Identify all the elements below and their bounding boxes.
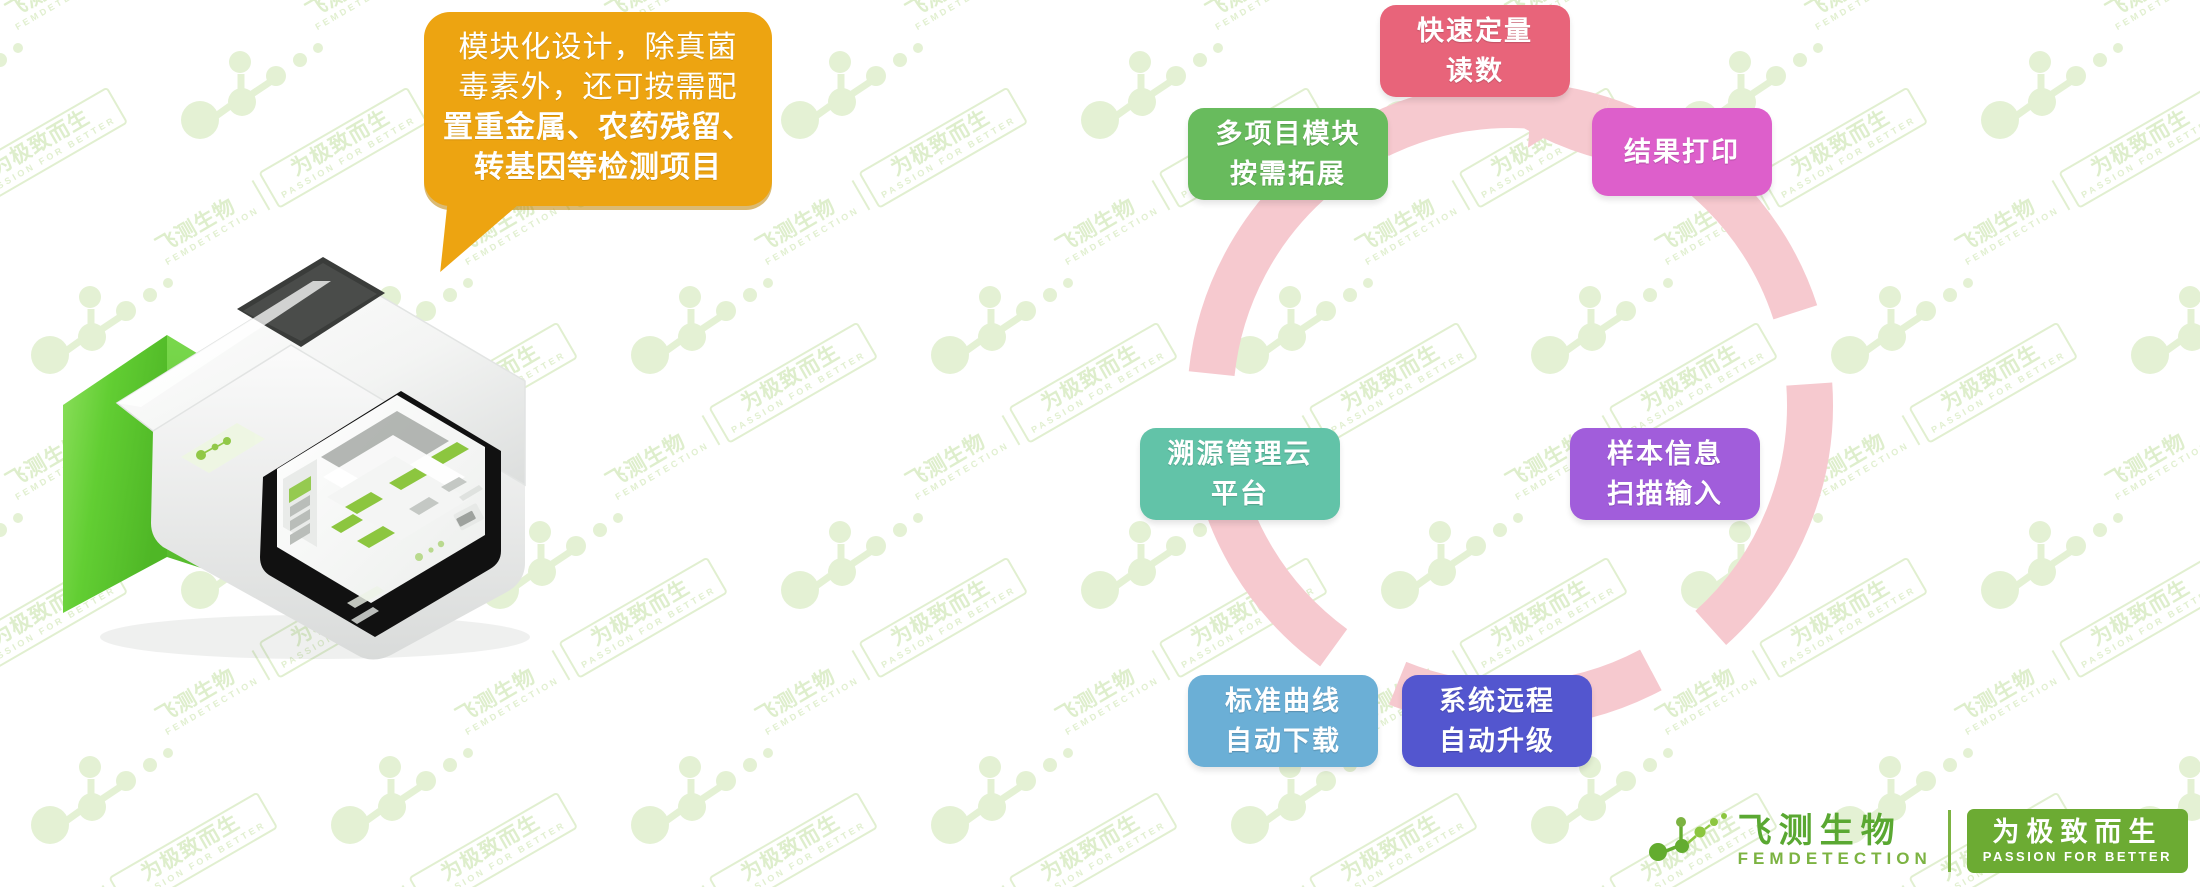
watermark-slogan-badge: 为极致而生PASSION FOR BETTER bbox=[108, 792, 278, 887]
watermark-molecule-icon bbox=[630, 733, 800, 853]
brand-name-en: FEMDETECTION bbox=[1738, 849, 1932, 869]
watermark-tile: 飞测生物FEMDETECTION为极致而生PASSION FOR BETTER bbox=[900, 792, 1178, 887]
cycle-node-fast-quant-reading[interactable]: 快速定量 读数 bbox=[1380, 5, 1570, 97]
watermark-divider bbox=[1002, 415, 1021, 445]
watermark-tile: 飞测生物FEMDETECTION为极致而生PASSION FOR BETTER bbox=[900, 322, 1178, 507]
watermark-tile: 飞测生物FEMDETECTION为极致而生PASSION FOR BETTER bbox=[750, 87, 1028, 272]
watermark-slogan-cn: 为极致而生 bbox=[1019, 800, 1163, 887]
watermark-molecule-icon bbox=[780, 498, 950, 618]
watermark-slogan-badge: 为极致而生PASSION FOR BETTER bbox=[858, 87, 1028, 209]
node-line-1: 结果打印 bbox=[1624, 132, 1740, 172]
watermark-tile: 飞测生物FEMDETECTION为极致而生PASSION FOR BETTER bbox=[1950, 557, 2200, 742]
cycle-node-traceability-cloud[interactable]: 溯源管理云 平台 bbox=[1140, 428, 1340, 520]
watermark-tile: 飞测生物FEMDETECTION为极致而生PASSION FOR BETTER bbox=[2100, 0, 2200, 36]
watermark-slogan-en: PASSION FOR BETTER bbox=[580, 585, 718, 671]
node-line-2: 按需拓展 bbox=[1230, 154, 1346, 194]
watermark-slogan-cn: 为极致而生 bbox=[419, 800, 563, 887]
watermark-brand-cn: 飞测生物 bbox=[1953, 186, 2057, 259]
watermark-brand-en: FEMDETECTION bbox=[1964, 675, 2062, 737]
watermark-brand-en: FEMDETECTION bbox=[2114, 440, 2200, 502]
watermark-divider bbox=[2052, 180, 2071, 210]
watermark-divider bbox=[852, 180, 871, 210]
watermark-tile: 飞测生物FEMDETECTION为极致而生PASSION FOR BETTER bbox=[1950, 87, 2200, 272]
watermark-brand-cn: 飞测生物 bbox=[153, 656, 257, 729]
watermark-slogan-en: PASSION FOR BETTER bbox=[1030, 820, 1168, 887]
watermark-brand-en: FEMDETECTION bbox=[1964, 205, 2062, 267]
watermark-slogan-badge: 为极致而生PASSION FOR BETTER bbox=[708, 792, 878, 887]
node-line-2: 自动下载 bbox=[1225, 721, 1341, 761]
watermark-brand-en: FEMDETECTION bbox=[2114, 0, 2200, 32]
watermark-slogan-badge: 为极致而生PASSION FOR BETTER bbox=[1008, 792, 1178, 887]
watermark-tile: 飞测生物FEMDETECTION为极致而生PASSION FOR BETTER bbox=[600, 792, 878, 887]
watermark-brand-cn: 飞测生物 bbox=[1953, 656, 2057, 729]
watermark-tile: 飞测生物FEMDETECTION为极致而生PASSION FOR BETTER bbox=[300, 792, 578, 887]
node-line-1: 多项目模块 bbox=[1216, 114, 1361, 154]
cycle-node-sample-info-scan[interactable]: 样本信息 扫描输入 bbox=[1570, 428, 1760, 520]
watermark-molecule-icon bbox=[930, 733, 1100, 853]
watermark-molecule-icon bbox=[1980, 28, 2150, 148]
node-line-2: 读数 bbox=[1446, 51, 1504, 91]
watermark-slogan-cn: 为极致而生 bbox=[719, 330, 863, 426]
watermark-slogan-cn: 为极致而生 bbox=[2069, 565, 2200, 661]
cycle-node-standard-curve-download[interactable]: 标准曲线 自动下载 bbox=[1188, 675, 1378, 767]
watermark-brand-en: FEMDETECTION bbox=[14, 0, 112, 32]
watermark-brand-en: FEMDETECTION bbox=[764, 675, 862, 737]
watermark-slogan-cn: 为极致而生 bbox=[0, 95, 113, 191]
watermark-brand-en: FEMDETECTION bbox=[464, 675, 562, 737]
watermark-slogan-en: PASSION FOR BETTER bbox=[730, 350, 868, 436]
molecule-logo-icon bbox=[1648, 812, 1734, 870]
watermark-molecule-icon bbox=[630, 263, 800, 383]
slogan-badge: 为极致而生 PASSION FOR BETTER bbox=[1967, 809, 2188, 873]
watermark-molecule-icon bbox=[1980, 498, 2150, 618]
watermark-molecule-icon bbox=[0, 28, 50, 148]
watermark-divider bbox=[2052, 650, 2071, 680]
watermark-slogan-en: PASSION FOR BETTER bbox=[1930, 350, 2068, 436]
watermark-slogan-badge: 为极致而生PASSION FOR BETTER bbox=[858, 557, 1028, 679]
watermark-tile: 飞测生物FEMDETECTION为极致而生PASSION FOR BETTER bbox=[750, 557, 1028, 742]
watermark-slogan-en: PASSION FOR BETTER bbox=[130, 820, 268, 887]
watermark-slogan-badge: 为极致而生PASSION FOR BETTER bbox=[408, 792, 578, 887]
logo-divider bbox=[1948, 810, 1951, 872]
watermark-slogan-en: PASSION FOR BETTER bbox=[730, 820, 868, 887]
node-line-2: 平台 bbox=[1211, 474, 1269, 514]
callout-line-4: 转基因等检测项目 bbox=[438, 148, 758, 188]
node-line-2: 扫描输入 bbox=[1607, 474, 1723, 514]
watermark-slogan-cn: 为极致而生 bbox=[869, 95, 1013, 191]
watermark-divider bbox=[702, 415, 721, 445]
callout-line-1: 模块化设计，除真菌 bbox=[438, 28, 758, 68]
watermark-brand-cn: 飞测生物 bbox=[903, 421, 1007, 494]
watermark-brand-cn: 飞测生物 bbox=[603, 421, 707, 494]
brand-name-cn: 飞测生物 bbox=[1738, 813, 1932, 849]
watermark-slogan-badge: 为极致而生PASSION FOR BETTER bbox=[2058, 557, 2200, 679]
watermark-tile: 飞测生物FEMDETECTION为极致而生PASSION FOR BETTER bbox=[600, 322, 878, 507]
watermark-molecule-icon bbox=[30, 733, 200, 853]
brand-text: 飞测生物 FEMDETECTION bbox=[1738, 813, 1932, 869]
watermark-slogan-badge: 为极致而生PASSION FOR BETTER bbox=[2058, 87, 2200, 209]
watermark-slogan-cn: 为极致而生 bbox=[269, 95, 413, 191]
node-line-1: 标准曲线 bbox=[1225, 681, 1341, 721]
process-cycle-diagram: 快速定量 读数 结果打印 样本信息 扫描输入 系统远程 自动升级 标准曲线 自动… bbox=[1140, 5, 1900, 795]
watermark-slogan-badge: 为极致而生PASSION FOR BETTER bbox=[1308, 792, 1478, 887]
watermark-brand-en: FEMDETECTION bbox=[764, 205, 862, 267]
watermark-tile: 飞测生物FEMDETECTION为极致而生PASSION FOR BETTER bbox=[0, 792, 278, 887]
watermark-brand-cn: 飞测生物 bbox=[2103, 0, 2200, 23]
watermark-slogan-en: PASSION FOR BETTER bbox=[2080, 115, 2200, 201]
cycle-node-system-remote-upgrade[interactable]: 系统远程 自动升级 bbox=[1402, 675, 1592, 767]
watermark-slogan-cn: 为极致而生 bbox=[569, 565, 713, 661]
watermark-brand-cn: 飞测生物 bbox=[903, 0, 1007, 23]
slogan-en: PASSION FOR BETTER bbox=[1983, 848, 2172, 866]
watermark-brand-cn: 飞测生物 bbox=[2103, 421, 2200, 494]
watermark-slogan-badge: 为极致而生PASSION FOR BETTER bbox=[558, 557, 728, 679]
callout-bubble-body: 模块化设计，除真菌 毒素外，还可按需配 置重金属、农药残留、 转基因等检测项目 bbox=[424, 12, 772, 206]
watermark-molecule-icon bbox=[2130, 263, 2200, 383]
node-line-2: 自动升级 bbox=[1439, 721, 1555, 761]
watermark-slogan-cn: 为极致而生 bbox=[719, 800, 863, 887]
node-line-1: 快速定量 bbox=[1417, 11, 1533, 51]
watermark-slogan-badge: 为极致而生PASSION FOR BETTER bbox=[1908, 322, 2078, 444]
watermark-slogan-cn: 为极致而生 bbox=[1919, 330, 2063, 426]
company-logo: 飞测生物 FEMDETECTION 为极致而生 PASSION FOR BETT… bbox=[1648, 809, 2188, 873]
watermark-molecule-icon bbox=[930, 263, 1100, 383]
watermark-brand-cn: 飞测生物 bbox=[3, 0, 107, 23]
watermark-brand-en: FEMDETECTION bbox=[164, 675, 262, 737]
watermark-tile: 飞测生物FEMDETECTION为极致而生PASSION FOR BETTER bbox=[2100, 322, 2200, 507]
callout-bubble-tail bbox=[440, 200, 524, 272]
callout-line-2: 毒素外，还可按需配 bbox=[438, 68, 758, 108]
callout-bubble: 模块化设计，除真菌 毒素外，还可按需配 置重金属、农药残留、 转基因等检测项目 bbox=[424, 12, 772, 206]
watermark-divider bbox=[1902, 415, 1921, 445]
watermark-slogan-badge: 为极致而生PASSION FOR BETTER bbox=[708, 322, 878, 444]
watermark-slogan-cn: 为极致而生 bbox=[119, 800, 263, 887]
watermark-brand-cn: 飞测生物 bbox=[753, 656, 857, 729]
watermark-molecule-icon bbox=[180, 28, 350, 148]
watermark-molecule-icon bbox=[780, 28, 950, 148]
watermark-slogan-en: PASSION FOR BETTER bbox=[430, 820, 568, 887]
node-line-1: 溯源管理云 bbox=[1168, 434, 1313, 474]
watermark-slogan-en: PASSION FOR BETTER bbox=[880, 585, 1018, 671]
watermark-divider bbox=[852, 650, 871, 680]
watermark-slogan-en: PASSION FOR BETTER bbox=[880, 115, 1018, 201]
cycle-node-multi-module-expand[interactable]: 多项目模块 按需拓展 bbox=[1188, 108, 1388, 200]
watermark-slogan-en: PASSION FOR BETTER bbox=[1330, 820, 1468, 887]
watermark-brand-en: FEMDETECTION bbox=[314, 0, 412, 32]
watermark-brand-en: FEMDETECTION bbox=[914, 440, 1012, 502]
callout-line-3: 置重金属、农药残留、 bbox=[438, 108, 758, 148]
watermark-molecule-icon bbox=[330, 733, 500, 853]
cycle-node-result-print[interactable]: 结果打印 bbox=[1592, 108, 1772, 196]
watermark-tile: 飞测生物FEMDETECTION为极致而生PASSION FOR BETTER bbox=[1200, 792, 1478, 887]
watermark-brand-en: FEMDETECTION bbox=[614, 440, 712, 502]
slogan-cn: 为极致而生 bbox=[1983, 817, 2172, 848]
watermark-brand-cn: 飞测生物 bbox=[303, 0, 407, 23]
watermark-tile: 飞测生物FEMDETECTION为极致而生PASSION FOR BETTER bbox=[900, 0, 1178, 36]
watermark-tile: 飞测生物FEMDETECTION为极致而生PASSION FOR BETTER bbox=[0, 0, 278, 36]
watermark-slogan-cn: 为极致而生 bbox=[2069, 95, 2200, 191]
watermark-brand-cn: 飞测生物 bbox=[453, 656, 557, 729]
watermark-slogan-cn: 为极致而生 bbox=[869, 565, 1013, 661]
node-line-1: 系统远程 bbox=[1439, 681, 1555, 721]
watermark-brand-en: FEMDETECTION bbox=[914, 0, 1012, 32]
watermark-molecule-icon bbox=[0, 498, 50, 618]
node-line-1: 样本信息 bbox=[1607, 434, 1723, 474]
watermark-slogan-en: PASSION FOR BETTER bbox=[2080, 585, 2200, 671]
watermark-slogan-cn: 为极致而生 bbox=[1319, 800, 1463, 887]
